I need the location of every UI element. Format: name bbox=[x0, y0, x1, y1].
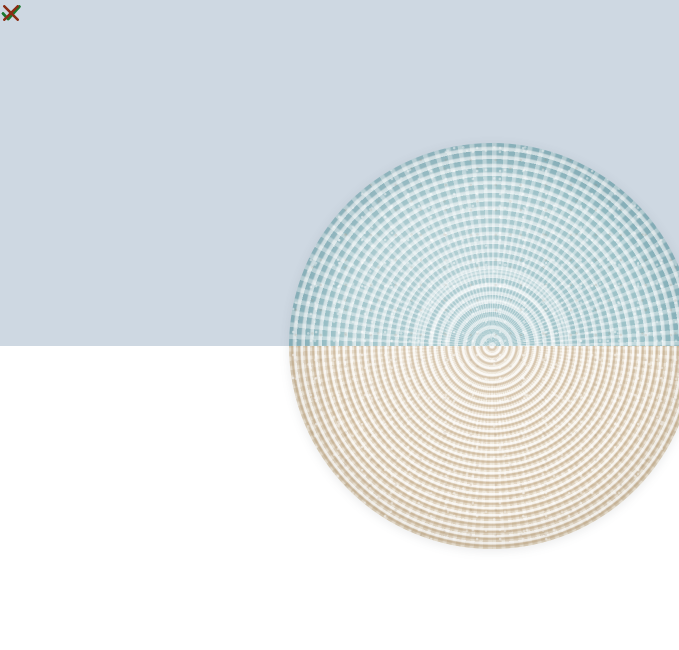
drawback-item bbox=[0, 0, 33, 24]
placemat-beige-half bbox=[289, 346, 679, 549]
infographic-canvas bbox=[0, 0, 679, 650]
placemat-teal-half bbox=[289, 143, 679, 346]
product-placemat-image bbox=[289, 143, 679, 549]
cross-icon bbox=[0, 2, 22, 24]
